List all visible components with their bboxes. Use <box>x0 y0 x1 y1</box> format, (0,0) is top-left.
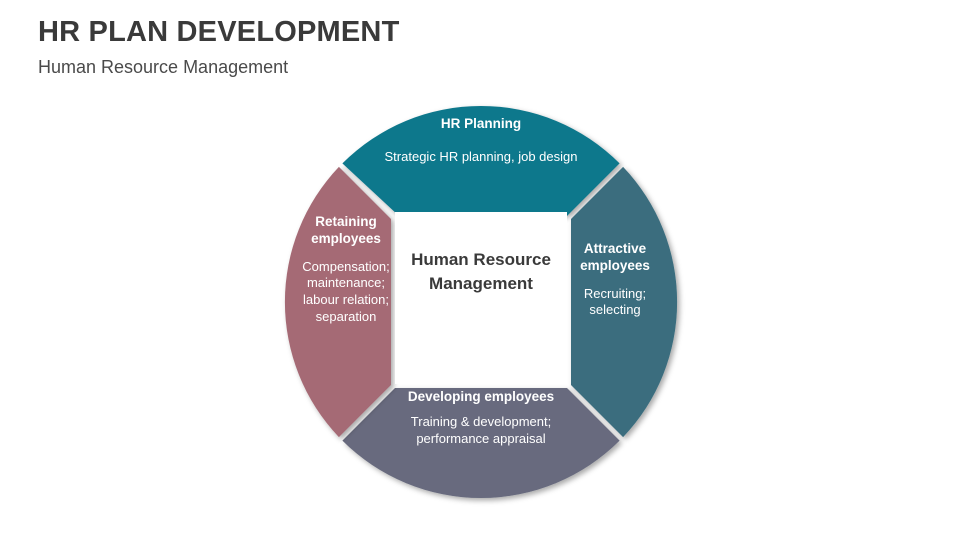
diagram-shapes <box>0 0 960 540</box>
segment-top-shape[interactable] <box>342 106 619 220</box>
segment-bottom-shape[interactable] <box>342 388 619 498</box>
center-square <box>395 212 567 384</box>
segment-left-shape[interactable] <box>285 167 391 437</box>
hr-cycle-diagram: HR Planning Strategic HR planning, job d… <box>0 0 960 540</box>
segment-right-shape[interactable] <box>571 167 677 437</box>
slide-canvas: HR PLAN DEVELOPMENT Human Resource Manag… <box>0 0 960 540</box>
